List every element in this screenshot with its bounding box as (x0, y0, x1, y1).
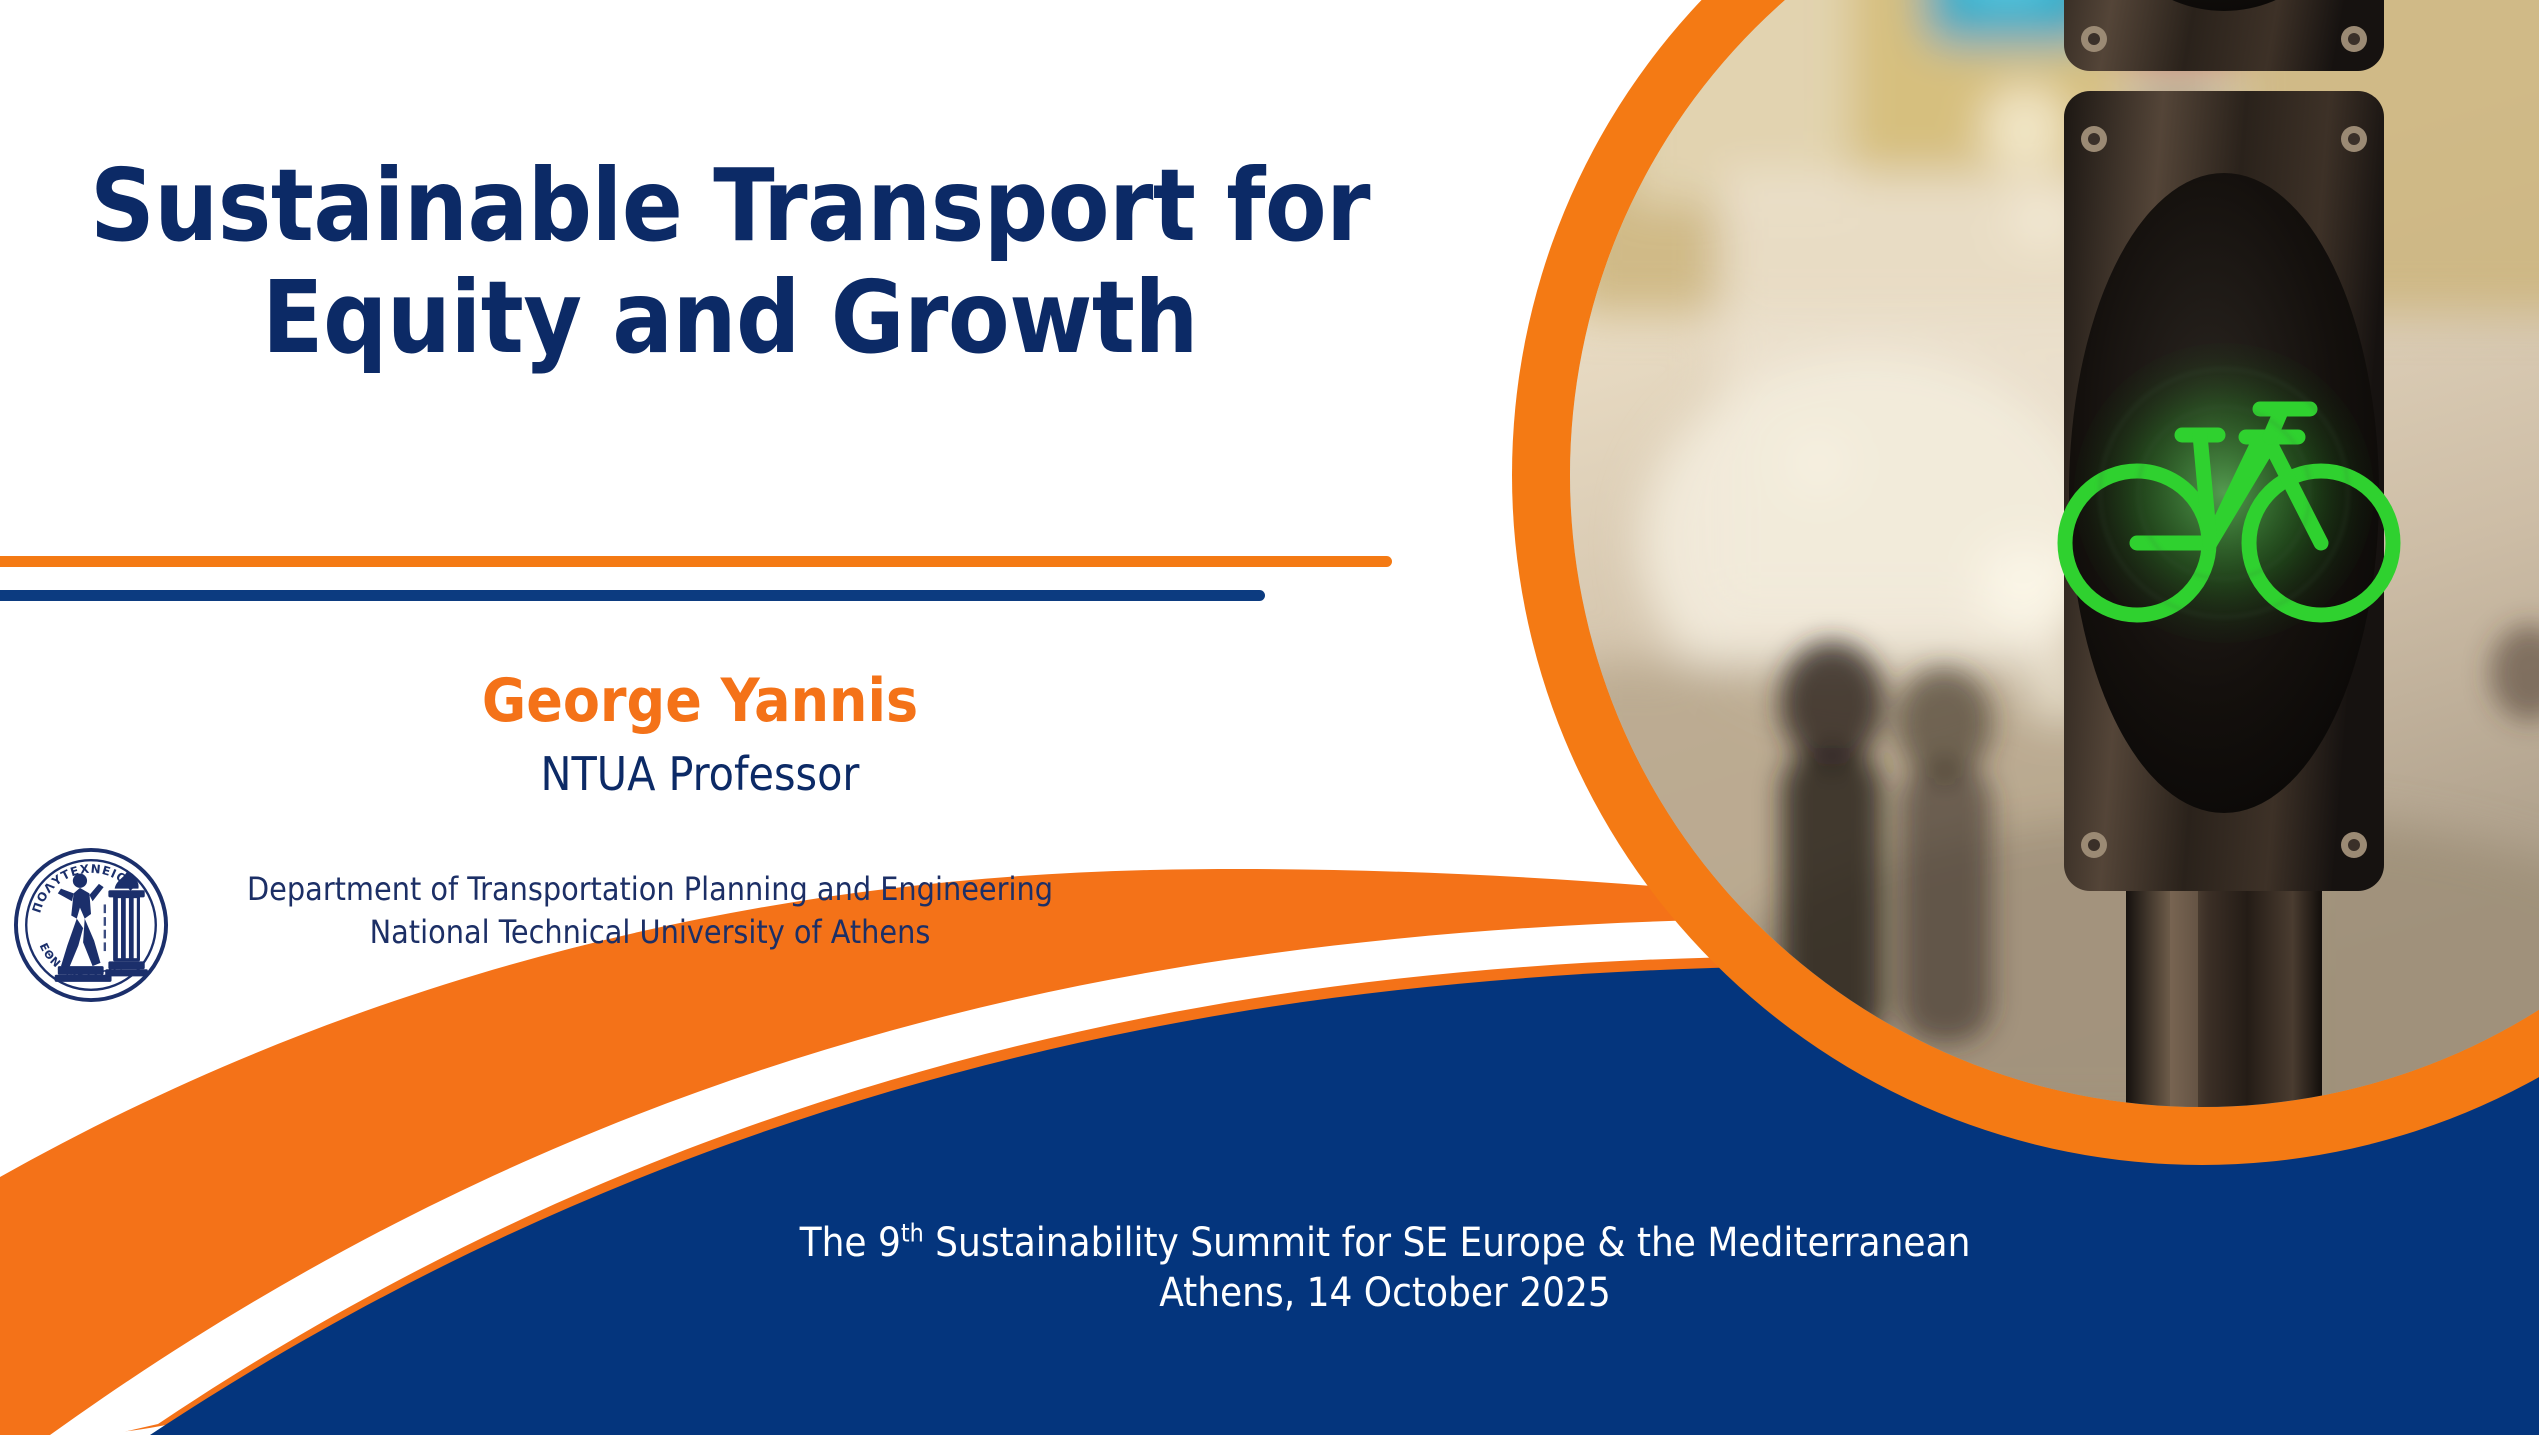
event-title-prefix: The 9 (800, 1220, 901, 1266)
affiliation-line-1: Department of Transportation Planning an… (150, 868, 1150, 911)
upper-signal-housing (2064, 0, 2384, 71)
speaker-name: George Yannis (0, 670, 1400, 733)
bicycle-traffic-light-photo (1570, 0, 2539, 1107)
circular-photo-frame (1512, 0, 2539, 1165)
orange-divider-rule (0, 556, 1392, 567)
title-line-1: Sustainable Transport for (0, 150, 1460, 262)
photo-clip-circle (1570, 0, 2539, 1107)
title-line-2: Equity and Growth (0, 262, 1460, 374)
event-location-date: Athens, 14 October 2025 (560, 1268, 2210, 1318)
event-ordinal-suffix: th (901, 1219, 924, 1248)
navy-divider-rule (0, 590, 1265, 601)
ntua-seal-logo: ΠΟΛΥΤΕΧΝΕΙΟΝ ΕΘΝ. ΜΕΤΣΟΒ. (12, 846, 170, 1004)
presentation-slide: Sustainable Transport for Equity and Gro… (0, 0, 2539, 1435)
event-info: The 9th Sustainability Summit for SE Eur… (560, 1218, 2210, 1318)
event-title-rest: Sustainability Summit for SE Europe & th… (924, 1220, 1971, 1266)
traffic-light-pole (2126, 875, 2322, 1107)
event-title-line: The 9th Sustainability Summit for SE Eur… (560, 1218, 2210, 1268)
bicycle-signal-housing (2064, 91, 2393, 891)
slide-title: Sustainable Transport for Equity and Gro… (0, 150, 1460, 374)
affiliation-line-2: National Technical University of Athens (150, 911, 1150, 954)
affiliation: Department of Transportation Planning an… (150, 868, 1150, 954)
speaker-role: NTUA Professor (0, 749, 1400, 800)
speaker-info: George Yannis NTUA Professor (0, 670, 1400, 800)
